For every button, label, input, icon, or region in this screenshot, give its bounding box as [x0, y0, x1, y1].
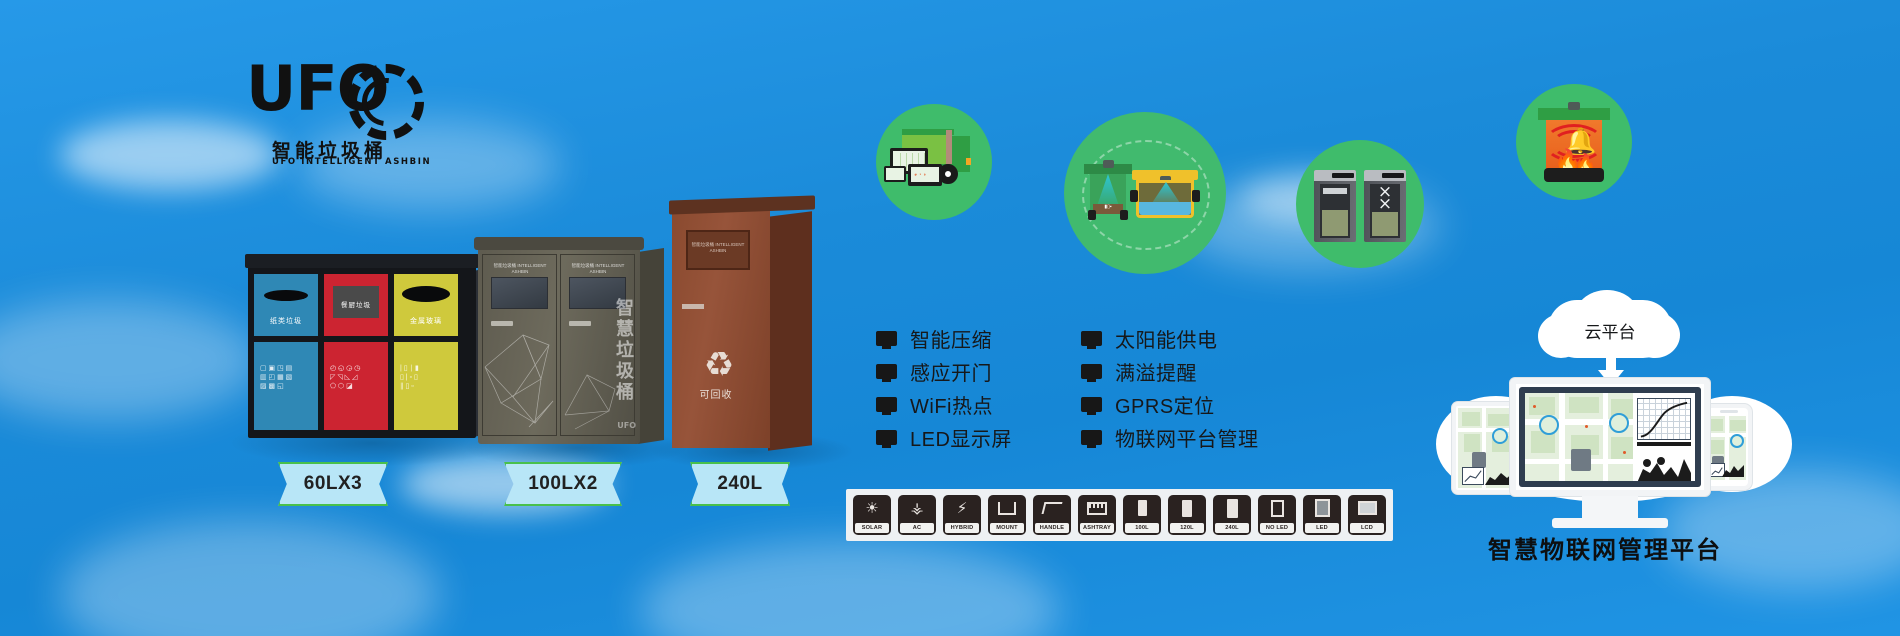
bin-handle: [491, 321, 513, 326]
spec-label: 100L: [1125, 523, 1159, 533]
spec-label: AC: [900, 523, 934, 533]
bin-lid: [245, 254, 479, 268]
desktop-monitor: [1510, 378, 1710, 496]
spec-label: HANDLE: [1035, 523, 1069, 533]
litter-graphic: ▢ ▣ ◳ ▤▥ ◰ ▦ ▧▨ ▩ ◱: [260, 364, 312, 391]
spec-100l: 100L: [1123, 495, 1161, 535]
door-caption: 智能垃圾桶 INTELLIGENT ASHBIN: [485, 263, 555, 274]
container-wheel-icon: [1192, 190, 1200, 202]
spec-label: 120L: [1170, 523, 1204, 533]
spec-solar: ☀ SOLAR: [853, 495, 891, 535]
capacity-text: 60LX3: [304, 473, 362, 495]
compacted-waste-icon: [1322, 210, 1348, 236]
capacity-text: 100LX2: [528, 473, 598, 495]
feature-circle-fill-level-sensor: ▮▯▪: [1064, 112, 1226, 274]
map-road: [1559, 393, 1565, 481]
compartment-bottom-paper: ▢ ▣ ◳ ▤▥ ◰ ▦ ▧▨ ▩ ◱: [254, 342, 318, 430]
mount-bracket-shape: [998, 502, 1016, 515]
phone-area-chart: [1722, 463, 1744, 477]
area-chart: [1637, 449, 1691, 481]
bin-100l-icon: [1123, 495, 1161, 521]
bin-display-screen: 餐厨垃圾: [331, 284, 381, 320]
spec-label: ASHTRAY: [1080, 523, 1114, 533]
spec-label: LED: [1305, 523, 1339, 533]
bin-side-panel: [768, 211, 812, 450]
feature-item: GPRS定位: [1081, 388, 1259, 421]
amber-container-sensor-icon: [1134, 170, 1196, 218]
bin-240l-icon: [1213, 495, 1251, 521]
map-block: [1569, 397, 1599, 413]
monitor-base: [1552, 518, 1668, 528]
door-caption: 智能垃圾桶 INTELLIGENT ASHBIN: [690, 242, 746, 253]
feature-label: 智能压缩: [910, 324, 992, 353]
compactor-bin-open-icon: [1314, 170, 1356, 242]
handle-shape: [1042, 502, 1063, 514]
capacity-label-100lx2: 100LX2: [504, 462, 622, 506]
compartment-top-paper: 纸类垃圾: [254, 274, 318, 336]
chart-axis-bar: [1637, 442, 1691, 446]
spec-hybrid: ⚡ HYBRID: [943, 495, 981, 535]
product-triple-bin: 纸类垃圾 ▢ ▣ ◳ ▤▥ ◰ ▦ ▧▨ ▩ ◱ 餐厨垃圾 ◴ ◵ ◶ ◷◸ ◹…: [248, 262, 476, 438]
bin-side-panel: [638, 248, 664, 444]
map-block: [1709, 419, 1723, 431]
feature-item: 感应开门: [876, 355, 1012, 388]
bin-slot-icon: [1332, 173, 1354, 178]
map-marker-dot: [1623, 451, 1626, 454]
monitor-screen: [1525, 393, 1695, 481]
litter-graphic: | ▯ ∣ ▮▯ | ▫ ▯∥ ▯ ▫: [400, 364, 452, 391]
compartment-bottom-metalglass: | ▯ ∣ ▮▯ | ▫ ▯∥ ▯ ▫: [394, 342, 458, 430]
map-pin-icon: [1609, 413, 1629, 433]
handle-icon: [1033, 495, 1071, 521]
logo-english-name: UFO INTELLIGENT ASHBIN: [272, 157, 431, 167]
led-panel-shape: [1315, 499, 1330, 517]
feature-label: WiFi热点: [910, 390, 993, 419]
product-dual-bin: 智能垃圾桶 INTELLIGENT ASHBIN 智能垃圾桶 INTELLIGE…: [478, 246, 640, 444]
spec-label: NO LED: [1260, 523, 1294, 533]
ashtray-icon: [1078, 495, 1116, 521]
feature-label: LED显示屏: [910, 423, 1012, 452]
power-plug-icon: ⚶: [898, 495, 936, 521]
monitor-icon: [1081, 331, 1102, 346]
bin-base-icon: [1544, 168, 1604, 182]
monitor-bezel: [1519, 387, 1701, 487]
spec-240l: 240L: [1213, 495, 1251, 535]
map-road: [1603, 393, 1608, 481]
monitor-icon: [876, 397, 897, 412]
bin-glyph: [1571, 449, 1591, 471]
feature-circle-fire-alarm: 🔔 🔥 🔥: [1516, 84, 1632, 200]
tablet-chart: [1462, 467, 1484, 485]
capacity-label-240l: 240L: [690, 462, 790, 506]
bin-opening-slot: [402, 286, 450, 302]
compacted-waste-icon: [1372, 212, 1398, 236]
laptop-device-icon: ◕ ◔ ◑: [908, 164, 942, 186]
map-road: [1458, 428, 1518, 432]
tablet-device-icon: [884, 166, 906, 182]
phone-map-view: [1706, 416, 1746, 480]
compartment-top-metalglass: 金属玻璃: [394, 274, 458, 336]
compartment-label: 金属玻璃: [394, 316, 458, 326]
monitor-icon: [876, 364, 897, 379]
bin-handle: [682, 304, 704, 309]
bin-top-icon: [1314, 170, 1356, 181]
bin-glyph: [1472, 452, 1486, 468]
bin-sensor-icon: [1568, 102, 1580, 110]
spec-handle: HANDLE: [1033, 495, 1071, 535]
bin-door-left: 智能垃圾桶 INTELLIGENT ASHBIN: [482, 254, 557, 436]
bin-lid: [669, 195, 815, 214]
bin-shape: [1182, 500, 1192, 517]
spec-no-led: NO LED: [1258, 495, 1296, 535]
feature-item: 太阳能供电: [1081, 322, 1259, 355]
cloud-decoration: [0, 300, 260, 420]
map-marker-dot: [1585, 425, 1588, 428]
compartment-top-kitchen: 餐厨垃圾: [324, 274, 388, 336]
chart-line: [1463, 468, 1483, 484]
tablet-map-view: [1458, 408, 1518, 488]
brand-logo: UFO 智能垃圾桶 UFO INTELLIGENT ASHBIN: [246, 56, 446, 168]
litter-graphic: ◴ ◵ ◶ ◷◸ ◹ ◺ ◿⬠ ⬡ ◪: [330, 364, 382, 391]
truck-light-icon: [966, 158, 971, 165]
spec-led: LED: [1303, 495, 1341, 535]
feature-label: 太阳能供电: [1115, 324, 1218, 353]
dashboard-graphic: ◕ ◔ ◑: [914, 172, 926, 178]
container-wheel-icon: [1130, 190, 1138, 202]
feature-circle-fleet-monitoring: ◕ ◔ ◑: [876, 104, 992, 220]
spec-120l: 120L: [1168, 495, 1206, 535]
platform-title: 智慧物联网管理平台: [1440, 530, 1770, 565]
promotional-banner: UFO 智能垃圾桶 UFO INTELLIGENT ASHBIN 纸类垃圾 ▢ …: [0, 0, 1900, 636]
product-single-bin: 智能垃圾桶 INTELLIGENT ASHBIN ♻ 可回收: [672, 208, 770, 448]
map-block: [1464, 434, 1480, 452]
bin-brand-mark: UFO: [617, 421, 636, 430]
map-pin-icon: [1492, 428, 1508, 444]
door-caption: 智能垃圾桶 INTELLIGENT ASHBIN: [563, 263, 633, 274]
bin-120l-icon: [1168, 495, 1206, 521]
bin-label: 可回收: [672, 386, 760, 401]
map-block: [1730, 420, 1746, 431]
feature-column-left: 智能压缩 感应开门 WiFi热点 LED显示屏: [876, 322, 1012, 454]
feature-item: 物联网平台管理: [1081, 421, 1259, 454]
wall-mount-icon: [988, 495, 1026, 521]
feature-column-right: 太阳能供电 满溢提醒 GPRS定位 物联网平台管理: [1081, 322, 1259, 454]
bin-shape: [1138, 500, 1147, 516]
tablet-device-screen: [886, 168, 904, 180]
spec-lcd: LCD: [1348, 495, 1386, 535]
feature-circle-waste-compaction: ⨯⨯: [1296, 140, 1424, 268]
bin-handle: [569, 321, 591, 326]
feature-item: WiFi热点: [876, 388, 1012, 421]
monitor-icon: [1081, 397, 1102, 412]
compactor-bin-active-icon: ⨯⨯: [1364, 170, 1406, 242]
monitor-map-view: [1525, 393, 1637, 481]
spec-ac: ⚶ AC: [898, 495, 936, 535]
lcd-screen-shape: [1358, 501, 1377, 515]
bin-top-icon: [1364, 170, 1406, 181]
mesh-graphic: [483, 327, 558, 437]
blank-panel-shape: [1271, 500, 1284, 517]
feature-item: 满溢提醒: [1081, 355, 1259, 388]
spec-mount: MOUNT: [988, 495, 1026, 535]
map-block: [1710, 440, 1724, 454]
monitor-analytics-view: [1633, 393, 1695, 481]
spec-label: LCD: [1350, 523, 1384, 533]
feature-label: 感应开门: [910, 357, 992, 386]
green-bin-sensor-icon: ▮▯▪: [1088, 164, 1128, 220]
spec-label: MOUNT: [990, 523, 1024, 533]
map-marker-dot: [1533, 405, 1536, 408]
bin-wheel-icon: [1088, 210, 1096, 220]
spec-label: 240L: [1215, 523, 1249, 533]
map-block: [1462, 412, 1480, 426]
bin-shape: [1227, 499, 1238, 518]
phone-speaker: [1720, 410, 1738, 413]
compartment-label: 餐厨垃圾: [333, 299, 379, 309]
container-liquid-icon: [1139, 202, 1191, 215]
led-panel-icon: [1303, 495, 1341, 521]
cloud-platform-label: 云平台: [1556, 310, 1664, 350]
bin-vertical-text: 智慧垃圾桶: [615, 298, 635, 403]
compactor-plate-icon: [1323, 188, 1347, 194]
cloud-decoration: [60, 520, 440, 636]
map-block: [1611, 437, 1633, 461]
feature-label: GPRS定位: [1115, 390, 1215, 419]
capacity-label-60lx3: 60LX3: [278, 462, 388, 506]
compaction-arrow-icon: ⨯⨯: [1376, 186, 1394, 210]
feature-item: 智能压缩: [876, 322, 1012, 355]
bin-wheel-icon: [1120, 210, 1128, 220]
spec-icon-strip: ☀ SOLAR ⚶ AC ⚡ HYBRID MOUNT HANDLE: [846, 489, 1393, 541]
feature-label: 物联网平台管理: [1115, 423, 1259, 452]
feature-label: 满溢提醒: [1115, 357, 1197, 386]
monitor-icon: [1081, 430, 1102, 445]
spec-label: SOLAR: [855, 523, 889, 533]
no-led-panel-icon: [1258, 495, 1296, 521]
hybrid-power-icon: ⚡: [943, 495, 981, 521]
capacity-text: 240L: [717, 473, 762, 495]
monitor-stand: [1582, 496, 1638, 520]
spec-ashtray: ASHTRAY: [1078, 495, 1116, 535]
compartment-label: 纸类垃圾: [254, 316, 318, 326]
sun-icon: ☀: [853, 495, 891, 521]
compartment-bottom-kitchen: ◴ ◵ ◶ ◷◸ ◹ ◺ ◿⬠ ⬡ ◪: [324, 342, 388, 430]
growth-chart: [1637, 398, 1691, 440]
bin-display-window: [491, 277, 548, 309]
monitor-icon: [1081, 364, 1102, 379]
bin-sensor-icon: [1103, 160, 1114, 168]
spec-label: HYBRID: [945, 523, 979, 533]
map-pin-icon: [1539, 415, 1559, 435]
bin-lid: [474, 237, 644, 250]
bin-waste-icon: ▮▯▪: [1093, 204, 1123, 214]
lcd-screen-icon: [1348, 495, 1386, 521]
cloud-decoration: [640, 540, 1060, 636]
monitor-icon: [876, 430, 897, 445]
map-block: [1488, 414, 1510, 426]
ashtray-shape: [1087, 502, 1107, 515]
monitor-icon: [876, 331, 897, 346]
feature-item: LED显示屏: [876, 421, 1012, 454]
recycle-icon: ♻: [700, 348, 738, 382]
bin-slot-icon: [1382, 173, 1404, 178]
map-pin-icon: [1730, 434, 1744, 448]
bin-opening-slot: [264, 290, 308, 301]
chart-curve: [1638, 399, 1690, 439]
